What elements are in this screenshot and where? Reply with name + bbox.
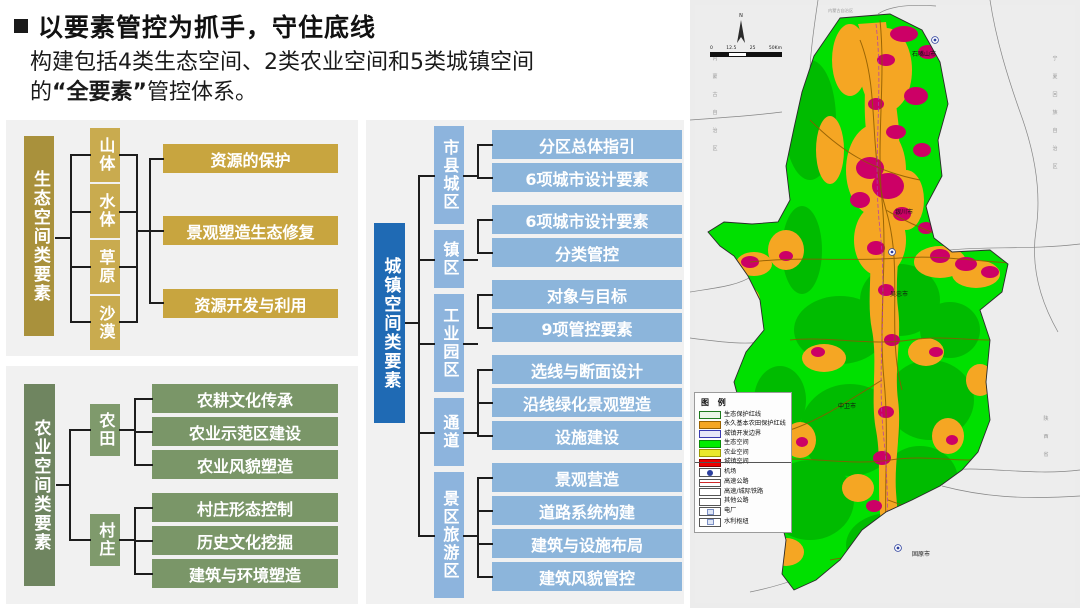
urban-leaf-park-1[interactable]: 9项管控要素 [492, 313, 682, 342]
connector [477, 294, 493, 296]
eco-root-label[interactable]: 生态空间类要素 [24, 136, 54, 336]
legend-item-farmland-redline: 永久基本农田保护红线 [699, 421, 788, 429]
connector [477, 177, 493, 179]
title-row: 以要素管控为抓手，守住底线 [14, 8, 376, 44]
connector [477, 294, 479, 328]
svg-text:治: 治 [1052, 145, 1057, 152]
connector [405, 322, 419, 324]
agri-sub-1[interactable]: 村庄 [90, 514, 120, 566]
subtitle-line-1: 构建包括4类生态空间、2类农业空间和5类城镇空间 [30, 48, 680, 78]
connector [418, 432, 435, 434]
connector [418, 259, 435, 261]
urban-leaf-city-0[interactable]: 分区总体指引 [492, 130, 682, 159]
legend-item-agri-space: 农业空间 [699, 449, 788, 457]
svg-text:蒙: 蒙 [712, 73, 717, 80]
legend-item-airport: 机场 [699, 468, 788, 477]
svg-text:中卫市: 中卫市 [838, 402, 856, 410]
legend-label-1: 永久基本农田保护红线 [724, 421, 786, 428]
agri-leaf-farm-2[interactable]: 农业风貌塑造 [152, 450, 338, 479]
urban-leaf-corridor-1[interactable]: 沿线绿化景观塑造 [492, 388, 682, 417]
urban-sub-1[interactable]: 镇区 [434, 230, 464, 288]
connector [136, 154, 138, 323]
urban-leaf-scenic-1[interactable]: 道路系统构建 [492, 496, 682, 525]
svg-text:回: 回 [1052, 92, 1057, 98]
scale-tick-1: 12.5 [726, 46, 736, 51]
connector [463, 343, 478, 345]
legend-label-2: 城镇开发边界 [724, 431, 761, 438]
connector [418, 175, 420, 535]
connector [119, 154, 137, 156]
connector [134, 464, 153, 466]
eco-sub-1[interactable]: 水体 [90, 184, 120, 238]
svg-text:区: 区 [712, 146, 717, 152]
connector [55, 237, 71, 239]
other-road-swatch [699, 498, 721, 506]
connector [418, 343, 435, 345]
connector [477, 543, 493, 545]
connector [134, 540, 153, 542]
scale-tick-2: 25 [750, 46, 756, 51]
svg-text:吴忠市: 吴忠市 [890, 290, 908, 298]
urban-leaf-corridor-2[interactable]: 设施建设 [492, 421, 682, 450]
legend-item-eco-redline: 生态保护红线 [699, 411, 788, 419]
compass-rose: N [734, 14, 748, 49]
svg-text:自: 自 [1052, 127, 1057, 134]
legend-label-9: 其他公路 [724, 498, 749, 505]
connector [134, 507, 153, 509]
agri-leaf-village-1[interactable]: 历史文化挖掘 [152, 526, 338, 555]
connector [119, 266, 137, 268]
legend-item-other-road: 其他公路 [699, 498, 788, 506]
legend-label-0: 生态保护红线 [724, 412, 761, 419]
legend-label-10: 电厂 [724, 508, 736, 515]
connector [463, 175, 478, 177]
svg-text:省: 省 [1043, 451, 1048, 458]
connector [119, 539, 135, 541]
connector [134, 398, 153, 400]
connector [418, 175, 435, 177]
legend-label-6: 机场 [724, 469, 736, 476]
connector [477, 219, 493, 221]
square-bullet-icon [14, 19, 28, 33]
connector [149, 302, 164, 304]
connector [463, 259, 478, 261]
scale-tick-3: 50Km [769, 46, 782, 51]
subtitle-emphasis: “全要素” [52, 80, 147, 105]
connector [119, 321, 137, 323]
svg-text:内蒙古自治区: 内蒙古自治区 [828, 7, 853, 14]
legend-item-eco-space: 生态空间 [699, 440, 788, 448]
agri-leaf-farm-0[interactable]: 农耕文化传承 [152, 384, 338, 413]
connector [69, 539, 91, 541]
agri-space-swatch [699, 449, 721, 457]
svg-text:夏: 夏 [1052, 74, 1057, 80]
svg-text:治: 治 [712, 127, 717, 134]
urban-leaf-scenic-2[interactable]: 建筑与设施布局 [492, 529, 682, 558]
airport-icon [699, 468, 721, 477]
connector [149, 230, 164, 232]
connector [477, 327, 493, 329]
connector [477, 435, 493, 437]
connector [477, 510, 493, 512]
subtitle-suffix: 管控体系。 [147, 80, 257, 105]
scale-tick-0: 0 [710, 46, 713, 51]
legend-title: 图 例 [701, 397, 788, 408]
subtitle-prefix: 的 [30, 80, 52, 105]
urban-sub-2[interactable]: 工业园区 [434, 294, 464, 392]
urban-sub-0[interactable]: 市县城区 [434, 126, 464, 224]
legend-label-3: 生态空间 [724, 440, 749, 447]
eco-redline-swatch [699, 411, 721, 419]
eco-sub-0[interactable]: 山体 [90, 128, 120, 182]
connector [418, 535, 435, 537]
connector [119, 211, 137, 213]
eco-leaf-0[interactable]: 资源的保护 [163, 144, 338, 173]
urban-sub-4[interactable]: 景区旅游区 [434, 472, 464, 598]
legend-item-water-hub: 水利枢纽 [699, 518, 788, 527]
legend-item-railway: 高速/城际铁路 [699, 488, 788, 496]
urban-leaf-city-1[interactable]: 6项城市设计要素 [492, 163, 682, 192]
connector [134, 573, 153, 575]
legend-item-expressway: 高速公路 [699, 479, 788, 487]
svg-text:石嘴山市: 石嘴山市 [912, 50, 936, 58]
connector [70, 154, 91, 156]
expressway-swatch [699, 479, 721, 487]
scale-bar-graphic [710, 52, 782, 57]
connector [70, 266, 91, 268]
connector [69, 429, 71, 541]
connector [70, 321, 91, 323]
subtitle-line-2: 的“全要素”管控体系。 [30, 78, 680, 108]
connector [477, 144, 493, 146]
agri-root-label[interactable]: 农业空间类要素 [24, 384, 55, 586]
eco-sub-2[interactable]: 草原 [90, 240, 120, 294]
eco-leaf-2[interactable]: 资源开发与利用 [163, 289, 338, 318]
scale-tick-labels: 0 12.5 25 50Km [710, 46, 782, 51]
urban-sub-3[interactable]: 通道 [434, 398, 464, 466]
agricultural-space-panel: 农业空间类要素 农田 村庄 农耕文化传承 农业示范区建设 农业风貌塑造 村庄形态… [6, 366, 358, 604]
connector [477, 369, 493, 371]
farmland-redline-swatch [699, 421, 721, 429]
svg-text:陕: 陕 [1043, 415, 1048, 422]
agri-leaf-village-0[interactable]: 村庄形态控制 [152, 493, 338, 522]
connector [477, 252, 493, 254]
urban-leaf-town-1[interactable]: 分类管控 [492, 238, 682, 267]
svg-text:宁: 宁 [1052, 55, 1057, 62]
slide-header: 以要素管控为抓手，守住底线 构建包括4类生态空间、2类农业空间和5类城镇空间 的… [0, 0, 690, 118]
power-plant-icon [699, 507, 721, 516]
connector [70, 211, 91, 213]
svg-text:固原市: 固原市 [912, 550, 930, 558]
ecological-space-panel: 生态空间类要素 山体 水体 草原 沙漠 资源的保护 景观塑造生态修复 资源开发与… [6, 120, 358, 356]
legend-label-8: 高速/城际铁路 [724, 489, 763, 496]
urban-leaf-scenic-0[interactable]: 景观营造 [492, 463, 682, 492]
legend-label-7: 高速公路 [724, 479, 749, 486]
svg-text:区: 区 [1052, 164, 1057, 170]
page-title: 以要素管控为抓手，守住底线 [38, 8, 376, 44]
planning-map[interactable]: 内蒙古 自治区 宁夏回 族自治区 甘肃省 陕西省 [690, 0, 1080, 608]
svg-text:自: 自 [712, 109, 717, 116]
urban-root-label[interactable]: 城镇空间类要素 [374, 223, 405, 423]
legend-label-4: 农业空间 [724, 450, 749, 457]
connector [149, 158, 164, 160]
legend-item-power-plant: 电厂 [699, 507, 788, 516]
connector [477, 477, 493, 479]
connector [136, 230, 150, 232]
scale-bar: 0 12.5 25 50Km [710, 46, 782, 57]
svg-text:古: 古 [712, 91, 717, 98]
page-subtitle: 构建包括4类生态空间、2类农业空间和5类城镇空间 的“全要素”管控体系。 [30, 48, 680, 107]
urban-leaf-corridor-0[interactable]: 选线与断面设计 [492, 355, 682, 384]
agri-sub-0[interactable]: 农田 [90, 404, 120, 456]
legend-item-urban-boundary: 城镇开发边界 [699, 430, 788, 438]
water-hub-icon [699, 518, 721, 527]
svg-text:银川市: 银川市 [895, 208, 913, 216]
eco-leaf-1[interactable]: 景观塑造生态修复 [163, 216, 338, 245]
urban-leaf-town-0[interactable]: 6项城市设计要素 [492, 205, 682, 234]
eco-sub-3[interactable]: 沙漠 [90, 296, 120, 350]
map-legend: 图 例 生态保护红线 永久基本农田保护红线 城镇开发边界 生态空间 农业空间 城… [694, 392, 792, 533]
connector [119, 429, 135, 431]
svg-text:族: 族 [1052, 109, 1057, 116]
urban-leaf-scenic-3[interactable]: 建筑风貌管控 [492, 562, 682, 591]
urban-leaf-park-0[interactable]: 对象与目标 [492, 280, 682, 309]
connector [477, 144, 479, 178]
connector [69, 429, 91, 431]
connector [463, 535, 478, 537]
connector [70, 154, 72, 322]
north-arrow-icon [734, 19, 748, 45]
connector [477, 402, 493, 404]
svg-text:西: 西 [1043, 434, 1048, 440]
urban-space-panel: 城镇空间类要素 市县城区 镇区 工业园区 通道 景区旅游区 分区总体指引 6项城… [366, 120, 684, 604]
connector [477, 219, 479, 253]
railway-swatch [699, 488, 721, 496]
connector [56, 484, 70, 486]
legend-label-11: 水利枢纽 [724, 519, 749, 526]
urban-boundary-swatch [699, 430, 721, 438]
connector [477, 576, 493, 578]
agri-leaf-village-2[interactable]: 建筑与环境塑造 [152, 559, 338, 588]
connector [134, 431, 153, 433]
eco-space-swatch [699, 440, 721, 448]
connector [477, 477, 479, 577]
agri-leaf-farm-1[interactable]: 农业示范区建设 [152, 417, 338, 446]
connector [463, 432, 478, 434]
